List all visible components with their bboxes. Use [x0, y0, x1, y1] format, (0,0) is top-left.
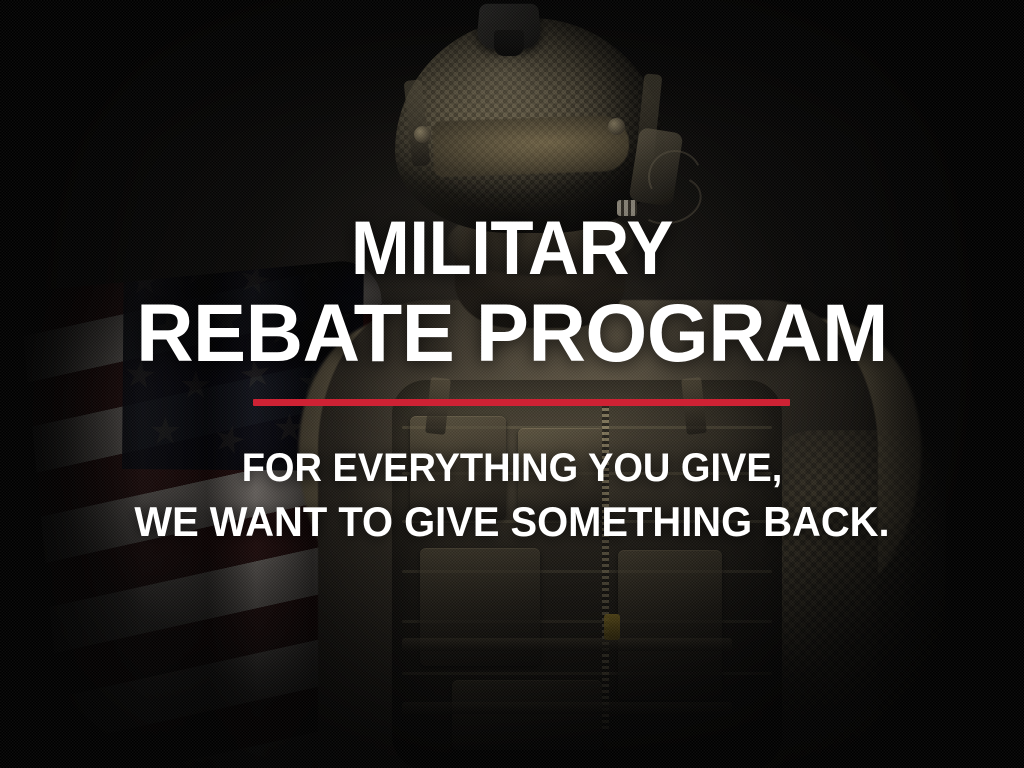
admin-pouch — [618, 550, 722, 700]
vest-zipper — [602, 402, 609, 732]
helmet-dial-knob — [414, 126, 431, 143]
digital-camouflage-sleeve — [756, 430, 946, 760]
night-vision-stem — [494, 30, 524, 56]
ir-strobe-icon — [617, 200, 637, 216]
gear-pull-tab — [604, 614, 620, 640]
background-photograph — [0, 0, 1024, 768]
soldier-figure — [0, 0, 1024, 768]
vest-strap — [402, 702, 732, 714]
helmet-dial-knob — [608, 118, 625, 135]
plate-carrier-vest — [392, 380, 782, 768]
helmet-velcro-band — [432, 115, 630, 178]
magazine-pouch — [518, 428, 604, 520]
military-rebate-poster: MILITARY REBATE PROGRAM FOR EVERYTHING Y… — [0, 0, 1024, 768]
magazine-pouch — [410, 416, 506, 520]
dump-pouch — [452, 680, 602, 750]
vest-strap — [402, 638, 732, 651]
molle-webbing — [402, 520, 772, 523]
